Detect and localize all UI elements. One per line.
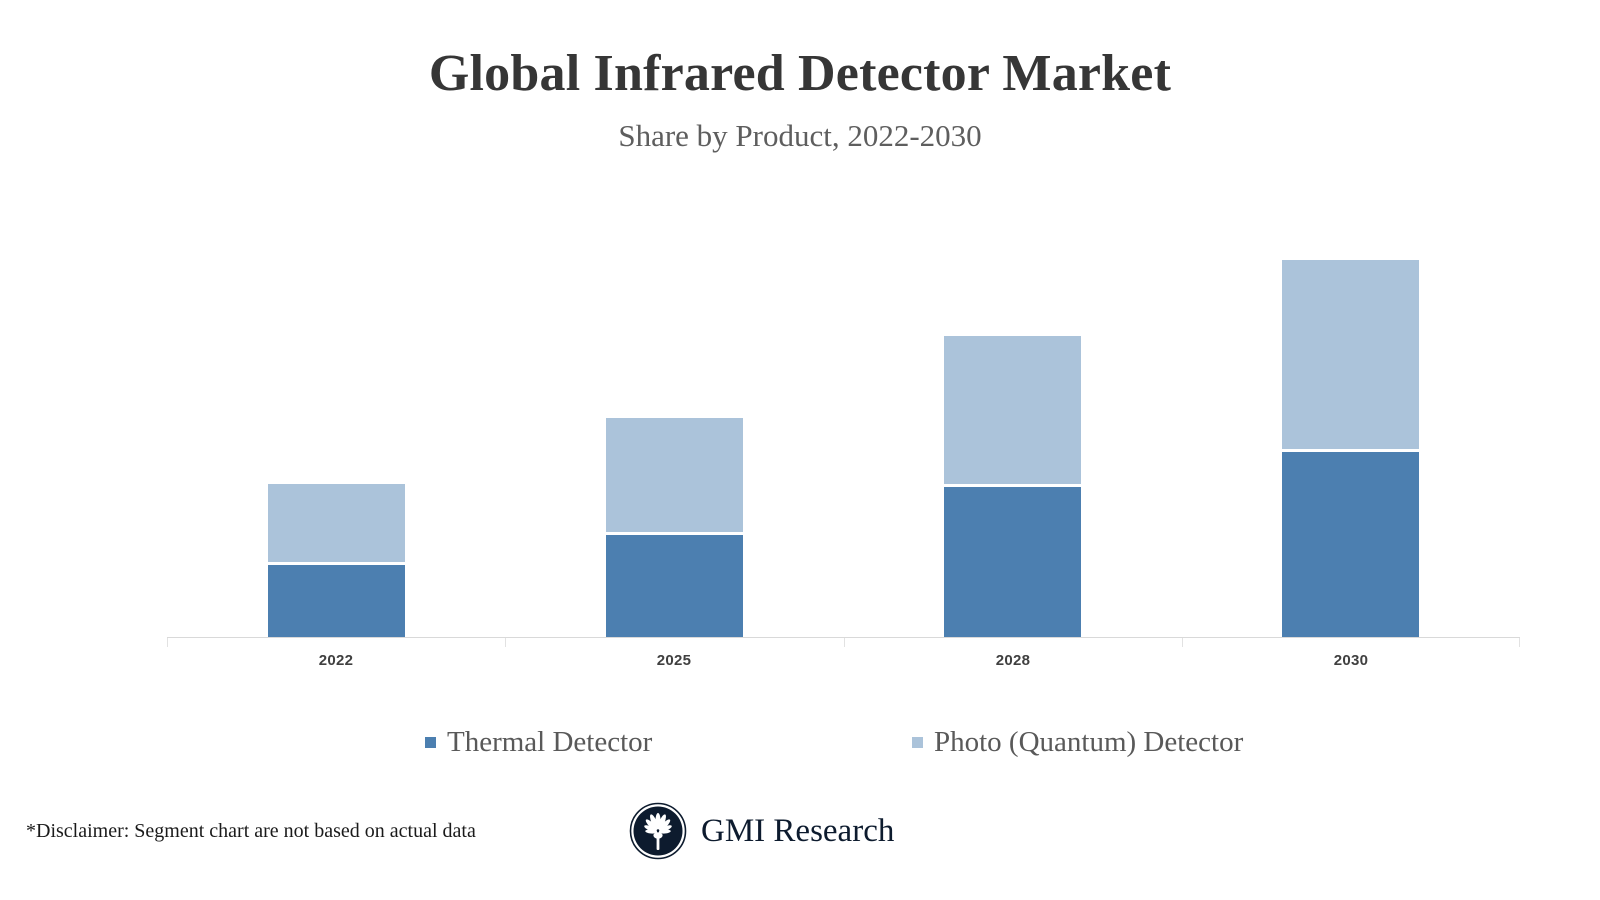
bar-segment-thermal-detector[interactable] [268,565,405,637]
x-axis-label-2025: 2025 [574,650,774,672]
bar-segment-thermal-detector[interactable] [606,535,743,637]
x-axis-label-2028: 2028 [913,650,1113,672]
bar-segment-photo-quantum-detector[interactable] [1282,260,1419,452]
bar-group-2030[interactable] [1282,260,1419,637]
bar-segment-photo-quantum-detector[interactable] [268,484,405,565]
plot-area [167,200,1520,638]
chart-legend: Thermal DetectorPhoto (Quantum) Detector [0,722,1600,762]
gmi-shell-logo-icon [629,802,687,860]
bar-segment-photo-quantum-detector[interactable] [944,336,1081,487]
chart-canvas: Global Infrared Detector Market Share by… [0,0,1600,900]
x-axis-category-labels: 2022202520282030 [167,650,1520,676]
legend-label: Thermal Detector [447,725,652,759]
legend-label: Photo (Quantum) Detector [934,725,1243,759]
x-axis-tick [167,638,168,647]
chart-subtitle: Share by Product, 2022-2030 [0,116,1600,156]
legend-square-marker-icon [912,737,923,748]
x-axis-tick [505,638,506,647]
brand-name: GMI Research [701,811,894,851]
bar-segment-photo-quantum-detector[interactable] [606,418,743,535]
chart-title: Global Infrared Detector Market [0,44,1600,104]
bar-group-2028[interactable] [944,336,1081,637]
legend-item-thermal-detector[interactable]: Thermal Detector [425,722,652,762]
x-axis-tick [1519,638,1520,647]
legend-item-photo-quantum-detector[interactable]: Photo (Quantum) Detector [912,722,1243,762]
x-axis-label-2030: 2030 [1251,650,1451,672]
bar-segment-thermal-detector[interactable] [944,487,1081,637]
bar-group-2025[interactable] [606,418,743,637]
chart-header: Global Infrared Detector Market Share by… [0,44,1600,156]
x-axis-tick [1182,638,1183,647]
brand-block: GMI Research [629,802,894,860]
disclaimer-text: *Disclaimer: Segment chart are not based… [26,816,476,846]
legend-square-marker-icon [425,737,436,748]
x-axis-tick [844,638,845,647]
x-axis-label-2022: 2022 [236,650,436,672]
bar-segment-thermal-detector[interactable] [1282,452,1419,637]
bar-group-2022[interactable] [268,484,405,637]
